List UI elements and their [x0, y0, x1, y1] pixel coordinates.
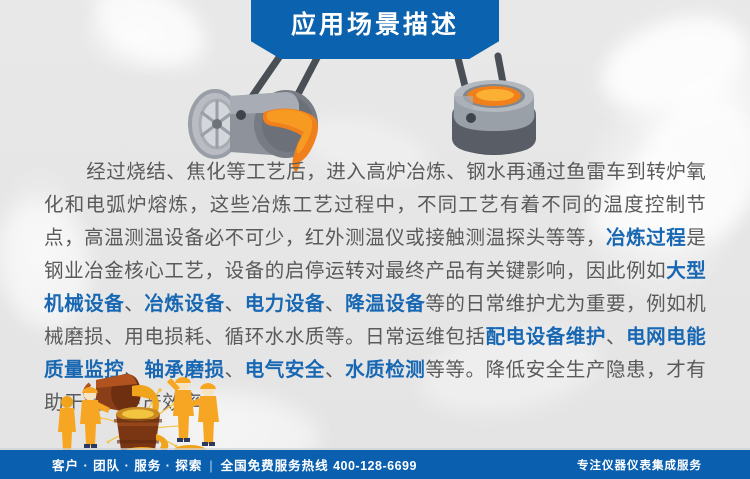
- footer-tagline: 专注仪器仪表集成服务: [577, 457, 702, 473]
- smoke-wisp: [591, 0, 750, 126]
- body-text-run: 、: [325, 293, 345, 315]
- footer-hotline-label: 全国免费服务热线: [221, 459, 329, 473]
- page-title: 应用场景描述: [291, 13, 459, 46]
- highlighted-term: 电气安全: [245, 359, 325, 381]
- highlighted-term: 冶炼过程: [606, 227, 686, 249]
- footer-hotline-number: 400-128-6699: [333, 459, 417, 473]
- footer-slogan: 客户 · 团队 · 服务 · 探索: [52, 459, 202, 473]
- body-text-run: 、: [124, 293, 144, 315]
- upright-ladle-icon: [438, 52, 568, 170]
- highlighted-term: 电力设备: [245, 293, 325, 315]
- footer-left-group: 客户 · 团队 · 服务 · 探索|全国免费服务热线 400-128-6699: [52, 455, 417, 474]
- body-text-run: 、: [225, 293, 245, 315]
- highlighted-term: 配电设备维护: [486, 326, 606, 348]
- highlighted-term: 水质检测: [345, 359, 425, 381]
- poster-canvas: 应用场景描述 经过烧结、焦化等工艺后，进入高炉冶炼、钢水再通过鱼雷车到转炉氧化和…: [0, 0, 750, 479]
- pouring-ladle-icon: [168, 52, 338, 172]
- body-text-run: 、: [325, 359, 345, 381]
- highlighted-term: 降温设备: [345, 293, 425, 315]
- body-text-run: 、: [606, 326, 626, 348]
- footer-bar: 客户 · 团队 · 服务 · 探索|全国免费服务热线 400-128-6699 …: [0, 450, 750, 479]
- header-banner: 应用场景描述: [251, 0, 499, 59]
- footer-separator: |: [202, 459, 220, 473]
- highlighted-term: 冶炼设备: [144, 293, 224, 315]
- foundry-workers-icon: [38, 368, 228, 453]
